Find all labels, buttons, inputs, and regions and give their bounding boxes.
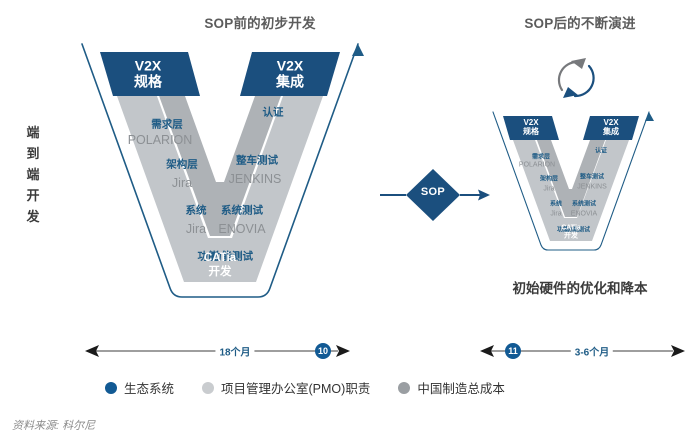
legend: 生态系统 项目管理办公室(PMO)职责 中国制造总成本 [105, 378, 533, 397]
timeline-right-badge: 11 [505, 343, 521, 359]
legend-label: 项目管理办公室(PMO)职责 [221, 378, 370, 397]
continuous-loop-icon [545, 52, 609, 108]
timeline-left-badge: 10 [315, 343, 331, 359]
continuous-loop-svg [545, 52, 609, 108]
v2x-small-header-box-left [503, 116, 559, 140]
legend-label: 中国制造总成本 [417, 378, 505, 397]
v-model-small-svg [482, 105, 662, 270]
timeline-right-arrowhead-end [671, 345, 685, 357]
panel-title-left: SOP前的初步开发 [100, 12, 420, 32]
side-label-char: 端 [18, 122, 48, 143]
v-small-outline-arrowhead [645, 112, 654, 121]
v2x-header-box-right [240, 52, 340, 96]
side-label-char: 发 [18, 206, 48, 227]
timeline-left-label: 18个月 [215, 344, 254, 359]
loop-arc-blue [575, 66, 594, 96]
legend-item: 中国制造总成本 [398, 378, 505, 397]
v-model-large-svg [60, 30, 380, 330]
legend-dot-icon [105, 382, 117, 394]
sop-label: SOP [407, 186, 459, 198]
legend-label: 生态系统 [124, 378, 174, 397]
legend-item: 生态系统 [105, 378, 174, 397]
panel-title-right: SOP后的不断演进 [470, 12, 690, 32]
side-label-end-to-end-development: 端 到 端 开 发 [18, 122, 48, 227]
loop-arrowhead-gray [571, 58, 586, 69]
panel-subtitle-right: 初始硬件的优化和降本 [470, 277, 690, 297]
timeline-right-label: 3-6个月 [571, 344, 613, 359]
side-label-char: 端 [18, 164, 48, 185]
side-label-char: 开 [18, 185, 48, 206]
v-outline-arrowhead [352, 44, 364, 56]
legend-dot-icon [398, 382, 410, 394]
v-model-small: V2X 规格 V2X 集成 需求层 POLARION 架构层 Jira 系统 J… [482, 105, 662, 270]
v2x-header-box-left [100, 52, 200, 96]
loop-arc-gray [559, 62, 577, 90]
legend-item: 项目管理办公室(PMO)职责 [202, 378, 370, 397]
diagram-canvas: SOP前的初步开发 SOP后的不断演进 初始硬件的优化和降本 端 到 端 开 发 [0, 0, 700, 444]
source-note: 资料来源: 科尔尼 [12, 417, 95, 433]
v2x-small-header-box-right [583, 116, 639, 140]
timeline-left-arrowhead-end [336, 345, 350, 357]
side-label-char: 到 [18, 143, 48, 164]
legend-dot-icon [202, 382, 214, 394]
v-model-large: V2X 规格 V2X 集成 需求层 POLARION 架构层 Jira 系统 J… [60, 30, 380, 330]
